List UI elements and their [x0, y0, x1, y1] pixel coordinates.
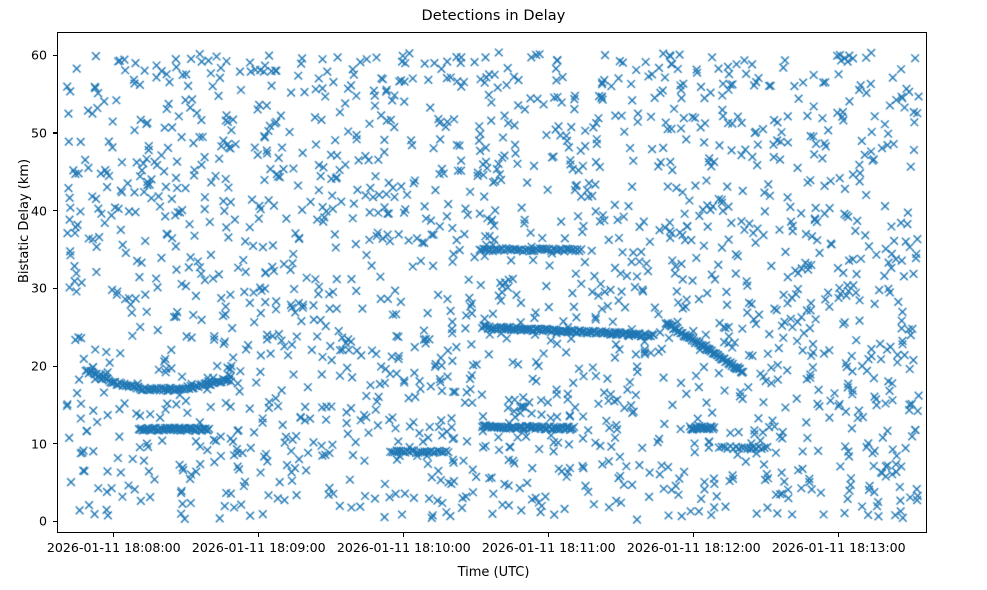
y-tick-label: 60	[0, 48, 47, 63]
x-tick-mark	[693, 533, 694, 537]
y-axis-label: Bistatic Delay (km)	[17, 159, 32, 283]
page-title: Detections in Delay	[0, 8, 987, 24]
x-tick-label: 2026-01-11 18:12:00	[627, 540, 761, 555]
x-axis-label: Time (UTC)	[0, 565, 987, 580]
y-tick-label: 10	[0, 436, 47, 451]
y-tick-label: 40	[0, 203, 47, 218]
y-tick-label: 30	[0, 281, 47, 296]
x-tick-mark	[548, 533, 549, 537]
plot-area	[57, 32, 927, 533]
scatter-points-canvas	[58, 33, 927, 533]
matplotlib-figure: Detections in Delay Bistatic Delay (km) …	[0, 0, 987, 590]
x-tick-mark	[838, 533, 839, 537]
y-tick-mark	[53, 132, 57, 133]
x-tick-label: 2026-01-11 18:13:00	[772, 540, 906, 555]
x-tick-mark	[403, 533, 404, 537]
y-tick-label: 50	[0, 125, 47, 140]
y-tick-mark	[53, 55, 57, 56]
y-tick-mark	[53, 443, 57, 444]
y-tick-label: 20	[0, 359, 47, 374]
x-tick-label: 2026-01-11 18:08:00	[47, 540, 181, 555]
x-tick-label: 2026-01-11 18:11:00	[482, 540, 616, 555]
x-tick-mark	[113, 533, 114, 537]
x-tick-mark	[258, 533, 259, 537]
y-tick-mark	[53, 288, 57, 289]
x-tick-label: 2026-01-11 18:10:00	[337, 540, 471, 555]
y-tick-mark	[53, 366, 57, 367]
y-tick-mark	[53, 521, 57, 522]
x-tick-label: 2026-01-11 18:09:00	[192, 540, 326, 555]
y-tick-mark	[53, 210, 57, 211]
y-tick-label: 0	[0, 514, 47, 529]
